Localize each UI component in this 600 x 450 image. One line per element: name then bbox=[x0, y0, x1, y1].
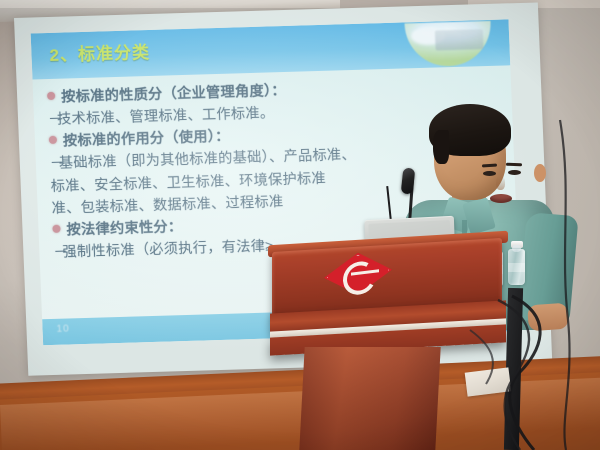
bullet-dot-icon bbox=[52, 225, 60, 233]
slide-line-text: 技术标准、管理标准、工作标准。 bbox=[57, 105, 275, 127]
nose bbox=[496, 176, 505, 190]
podium bbox=[272, 245, 512, 450]
podium-emblem bbox=[324, 249, 392, 299]
header-landscape-image bbox=[405, 21, 493, 68]
slide-line-text: 强制性标准（必须执行，有法律≥ bbox=[62, 238, 273, 260]
slide-line-text: 按标准的作用分（使用）： bbox=[63, 129, 230, 150]
presentation-photo: 2、标准分类 按标准的性质分（企业管理角度）： －技术标准、管理标准、工作标准。… bbox=[0, 0, 600, 450]
eyebrow-left bbox=[482, 163, 497, 167]
mouth bbox=[490, 194, 512, 203]
eye-right bbox=[508, 170, 521, 175]
speaker-right-hand bbox=[527, 303, 569, 332]
eye-left bbox=[483, 171, 496, 176]
ear bbox=[534, 164, 546, 182]
bullet-dot-icon bbox=[49, 136, 57, 144]
podium-column bbox=[299, 347, 440, 450]
hair bbox=[429, 104, 511, 156]
slide-title: 2、标准分类 bbox=[49, 38, 150, 66]
slide-page-number: 10 bbox=[56, 323, 70, 334]
slide-line-text: 按法律约束性分： bbox=[66, 219, 183, 238]
eyebrow-right bbox=[506, 163, 522, 167]
bullet-dot-icon bbox=[47, 92, 55, 100]
